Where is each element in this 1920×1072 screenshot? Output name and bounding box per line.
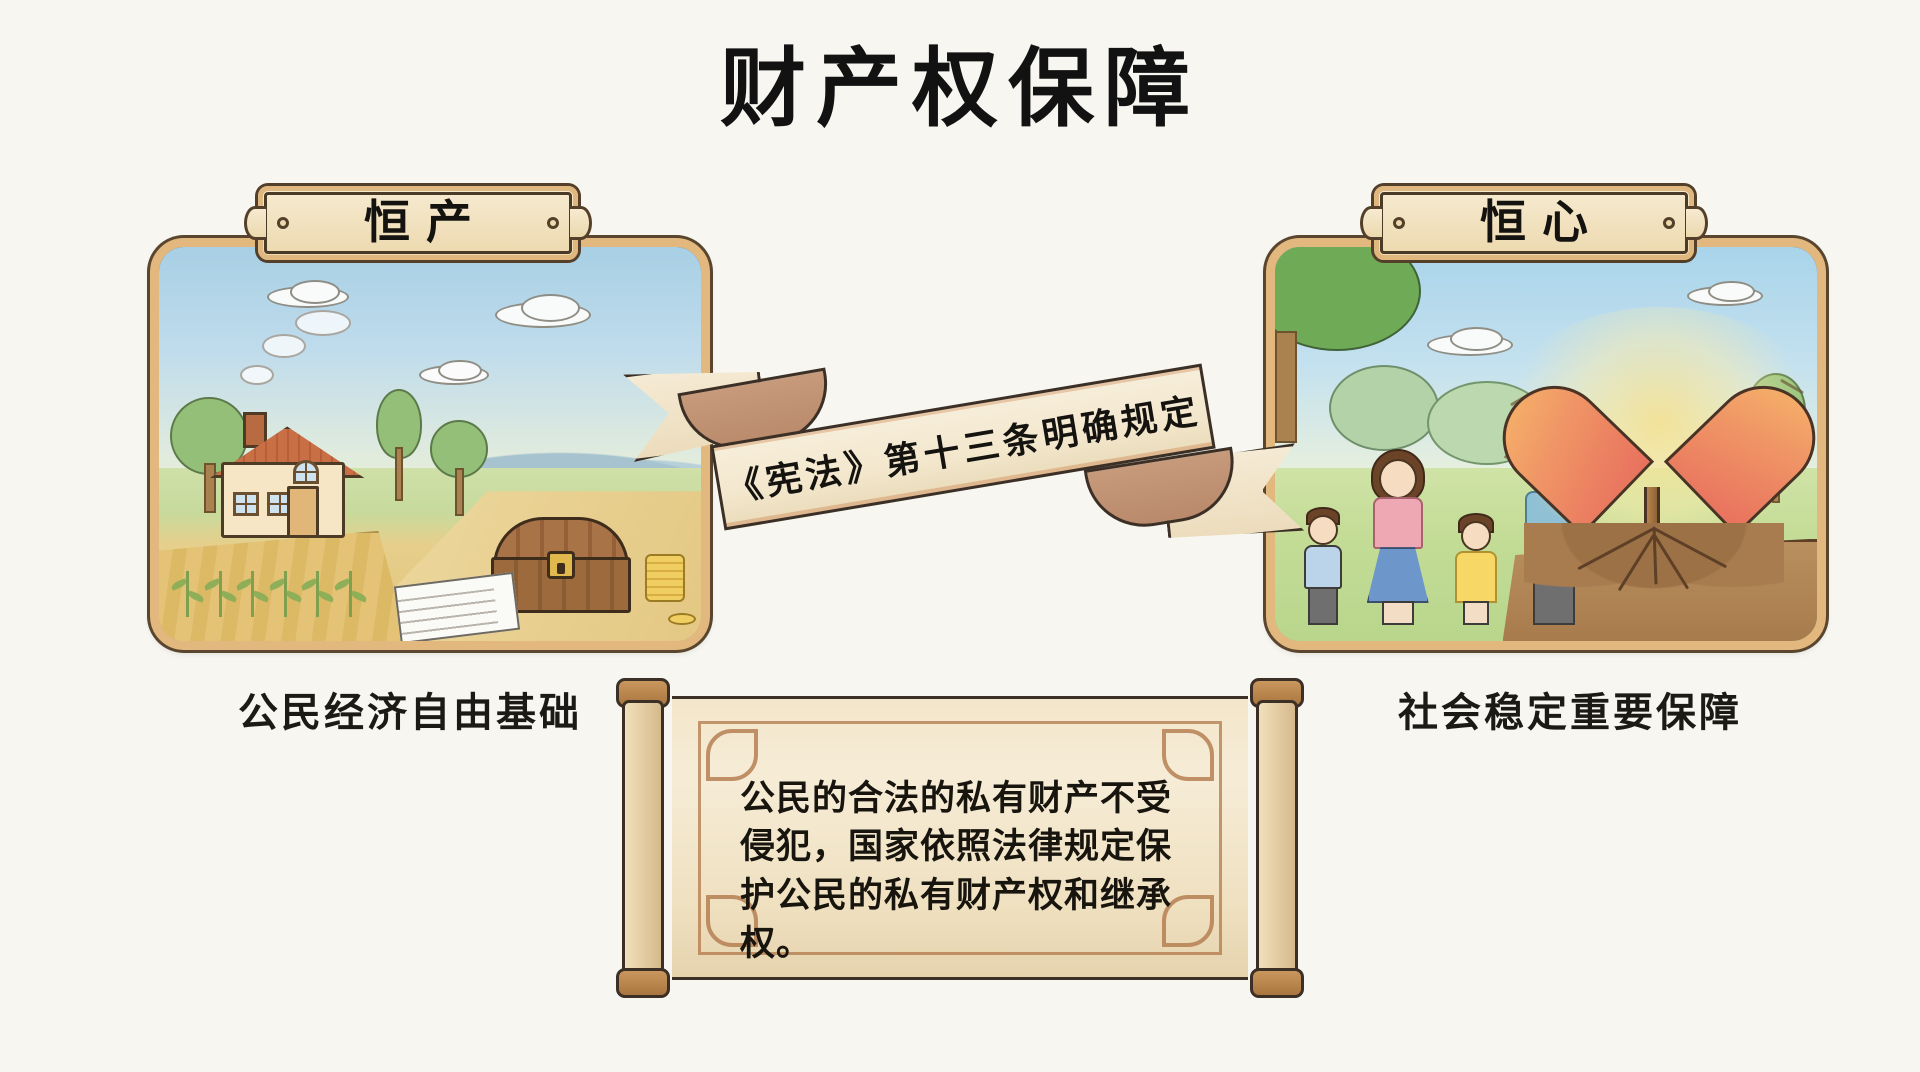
plaque-ear-right — [570, 206, 592, 240]
plaque-left[interactable]: 恒产 — [258, 186, 578, 260]
head — [1308, 515, 1338, 545]
plaque-stud — [547, 217, 559, 229]
constitution-scroll[interactable]: 公民的合法的私有财产不受侵犯，国家依照法律规定保护公民的私有财产权和继承权。 — [614, 678, 1306, 998]
smoke-puff — [295, 310, 351, 336]
house-icon — [213, 412, 361, 538]
crop-plant — [219, 571, 222, 617]
page-title: 财产权保障 — [0, 46, 1920, 132]
torso — [1455, 551, 1497, 603]
left-panel-caption: 公民经济自由基础 — [130, 680, 690, 738]
plaque-stud — [1393, 217, 1405, 229]
crop-plant — [284, 571, 287, 617]
window-icon — [233, 492, 259, 516]
scroll-roller-right[interactable] — [1248, 678, 1306, 998]
cloud-icon — [495, 302, 591, 328]
door-icon — [287, 486, 319, 538]
crop-plant — [251, 571, 254, 617]
legs — [1463, 601, 1489, 625]
plaque-stud — [277, 217, 289, 229]
right-illustration-panel[interactable] — [1266, 238, 1826, 650]
legs — [1308, 587, 1338, 625]
torso — [1373, 497, 1423, 549]
plaque-ear-right — [1686, 206, 1708, 240]
scroll-sheet: 公民的合法的私有财产不受侵犯，国家依照法律规定保护公民的私有财产权和继承权。 — [672, 696, 1248, 980]
torso — [1304, 545, 1342, 589]
heart-tree-icon — [1524, 325, 1784, 625]
skirt — [1367, 547, 1429, 603]
crop-plant — [316, 571, 319, 617]
smoke-puff — [262, 334, 306, 358]
adult-mother — [1363, 449, 1433, 625]
head — [1461, 521, 1491, 551]
plaque-right-label: 恒心 — [1464, 200, 1604, 246]
roller-rod — [1256, 700, 1298, 976]
head — [1379, 459, 1417, 499]
cloud-icon — [1427, 334, 1513, 356]
right-panel-caption: 社会稳定重要保障 — [1290, 680, 1850, 738]
infographic-canvas: 财产权保障 — [0, 0, 1920, 1072]
window-icon — [293, 460, 319, 484]
roller-knob — [616, 968, 670, 998]
roller-knob — [1250, 968, 1304, 998]
plaque-stud — [1663, 217, 1675, 229]
child-boy — [1297, 507, 1349, 625]
plaque-right[interactable]: 恒心 — [1374, 186, 1694, 260]
roller-rod — [622, 700, 664, 976]
plaque-ear-left — [1360, 206, 1382, 240]
legs — [1382, 601, 1414, 625]
plaque-ear-left — [244, 206, 266, 240]
child-girl — [1449, 513, 1503, 625]
constitution-ribbon[interactable]: 《宪法》第十三条明确规定 — [636, 358, 1290, 568]
tree-icon — [430, 420, 488, 516]
left-illustration-panel[interactable] — [150, 238, 710, 650]
crop-plant — [349, 571, 352, 617]
tree-roots — [1524, 523, 1784, 625]
plaque-left-label: 恒产 — [348, 200, 488, 246]
corner-flourish-icon — [706, 729, 758, 781]
corner-flourish-icon — [1162, 729, 1214, 781]
gold-coin — [668, 613, 696, 625]
scroll-roller-left[interactable] — [614, 678, 672, 998]
lock-icon — [547, 551, 575, 579]
crop-plant — [186, 571, 189, 617]
scroll-text: 公民的合法的私有财产不受侵犯，国家依照法律规定保护公民的私有财产权和继承权。 — [740, 775, 1182, 968]
tree-icon — [376, 389, 422, 501]
